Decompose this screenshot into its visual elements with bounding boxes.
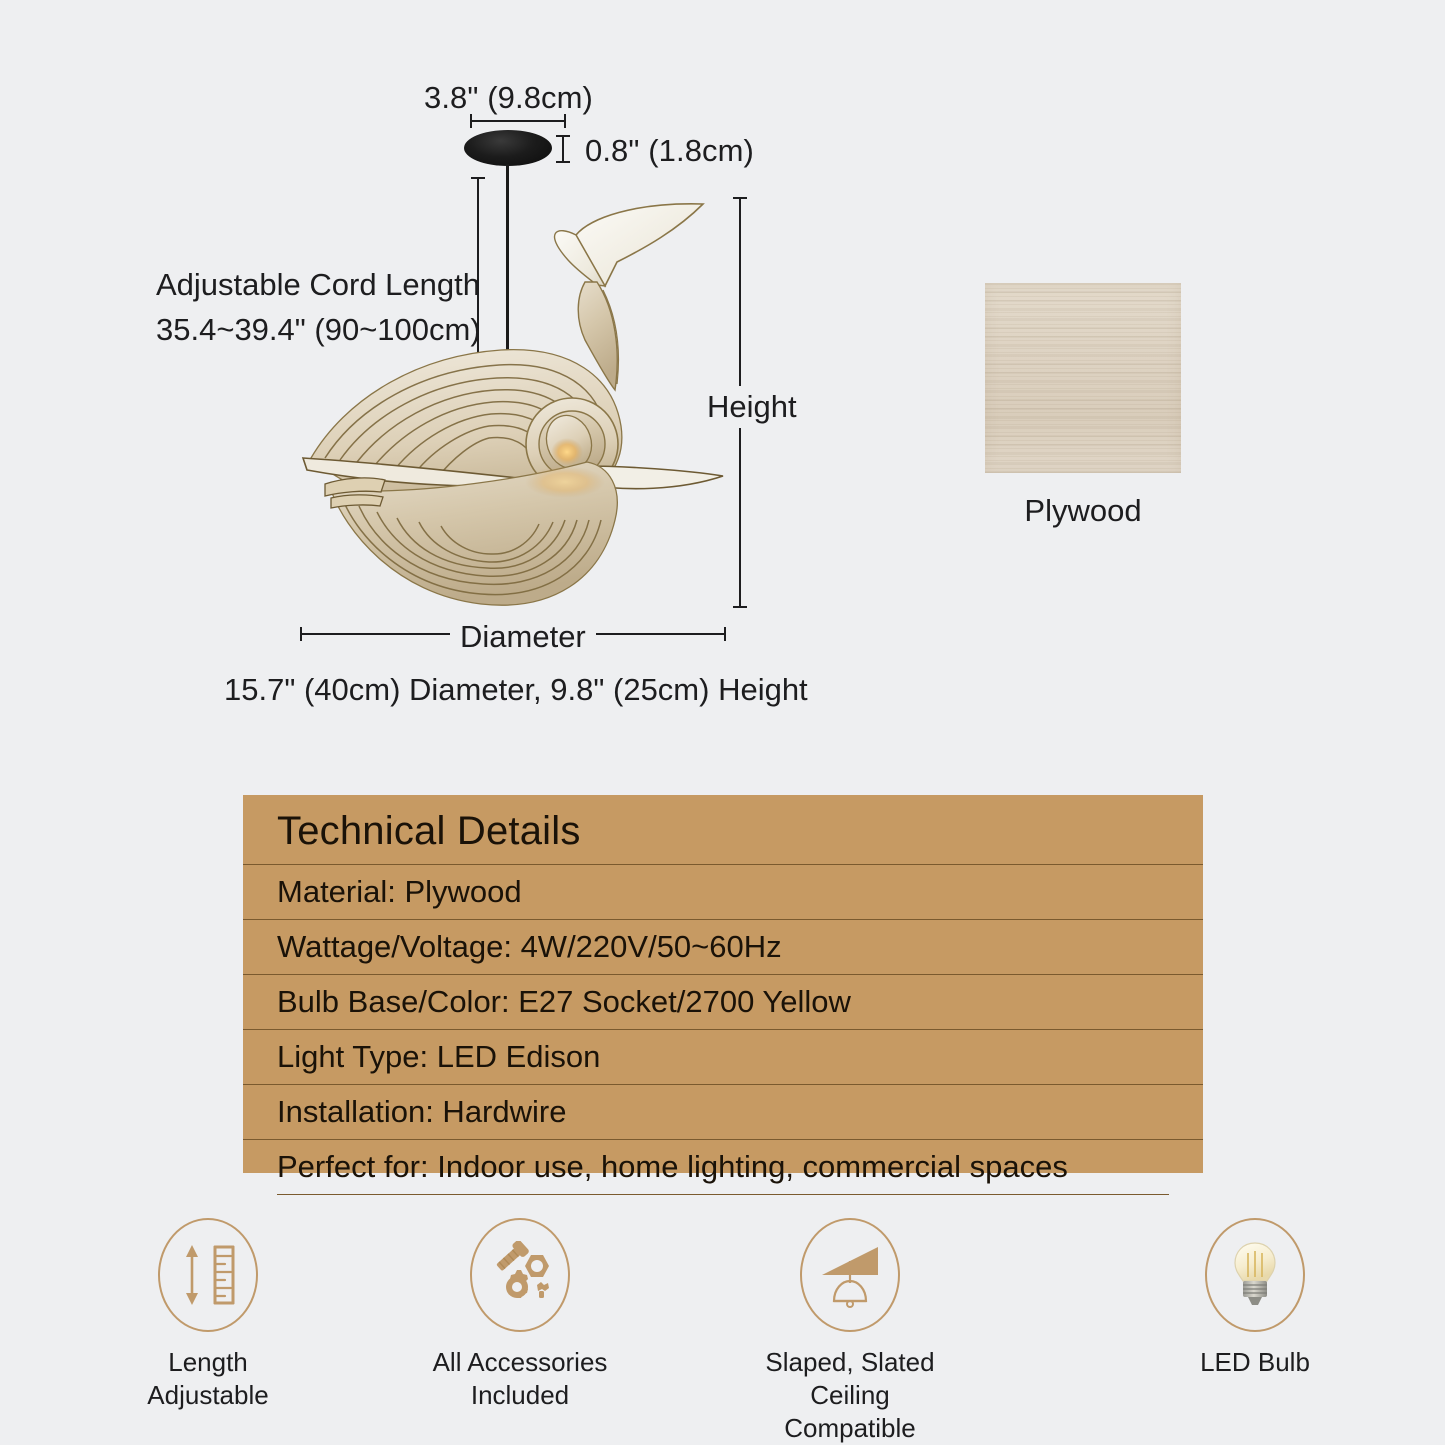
technical-details-panel: Technical Details Material: Plywood Watt… xyxy=(243,795,1203,1173)
technical-details-title: Technical Details xyxy=(243,795,1203,864)
feature-label-led-bulb: LED Bulb xyxy=(1135,1346,1375,1379)
feature-label-accessories-included: All Accessories Included xyxy=(400,1346,640,1412)
tech-row-wattage-voltage: Wattage/Voltage: 4W/220V/50~60Hz xyxy=(243,919,1203,974)
canopy-height-rule xyxy=(562,135,564,163)
ceiling-canopy xyxy=(464,130,552,166)
size-caption: 15.7" (40cm) Diameter, 9.8" (25cm) Heigh… xyxy=(224,672,808,708)
feature-label-length-adjustable: Length Adjustable xyxy=(88,1346,328,1412)
feature-sloped-ceiling: Slaped, Slated Ceiling Compatible xyxy=(730,1218,970,1445)
feature-length-adjustable: Length Adjustable xyxy=(88,1218,328,1412)
tech-row-material: Material: Plywood xyxy=(243,864,1203,919)
length-adjustable-icon xyxy=(158,1218,258,1332)
canopy-width-rule xyxy=(470,120,566,122)
product-spec-sheet: 3.8" (9.8cm) 0.8" (1.8cm) Adjustable Cor… xyxy=(0,0,1445,1445)
plywood-swatch xyxy=(985,283,1181,473)
sloped-ceiling-icon xyxy=(800,1218,900,1332)
canopy-height-label: 0.8" (1.8cm) xyxy=(585,133,754,169)
tech-panel-bottom-rule xyxy=(277,1194,1169,1195)
canopy-width-label: 3.8" (9.8cm) xyxy=(424,80,593,116)
accessories-included-icon xyxy=(470,1218,570,1332)
diameter-label: Diameter xyxy=(450,617,596,657)
feature-led-bulb: LED Bulb xyxy=(1135,1218,1375,1379)
plywood-swatch-label: Plywood xyxy=(985,493,1181,529)
feature-accessories-included: All Accessories Included xyxy=(400,1218,640,1412)
led-bulb-icon xyxy=(1205,1218,1305,1332)
tech-row-bulb-base-color: Bulb Base/Color: E27 Socket/2700 Yellow xyxy=(243,974,1203,1029)
tech-row-light-type: Light Type: LED Edison xyxy=(243,1029,1203,1084)
tech-row-perfect-for: Perfect for: Indoor use, home lighting, … xyxy=(243,1139,1203,1194)
feature-label-sloped-ceiling: Slaped, Slated Ceiling Compatible xyxy=(730,1346,970,1445)
tech-row-installation: Installation: Hardwire xyxy=(243,1084,1203,1139)
height-label: Height xyxy=(699,386,805,428)
whale-pendant-lamp-image xyxy=(285,190,735,620)
plywood-swatch-group: Plywood xyxy=(985,283,1181,529)
